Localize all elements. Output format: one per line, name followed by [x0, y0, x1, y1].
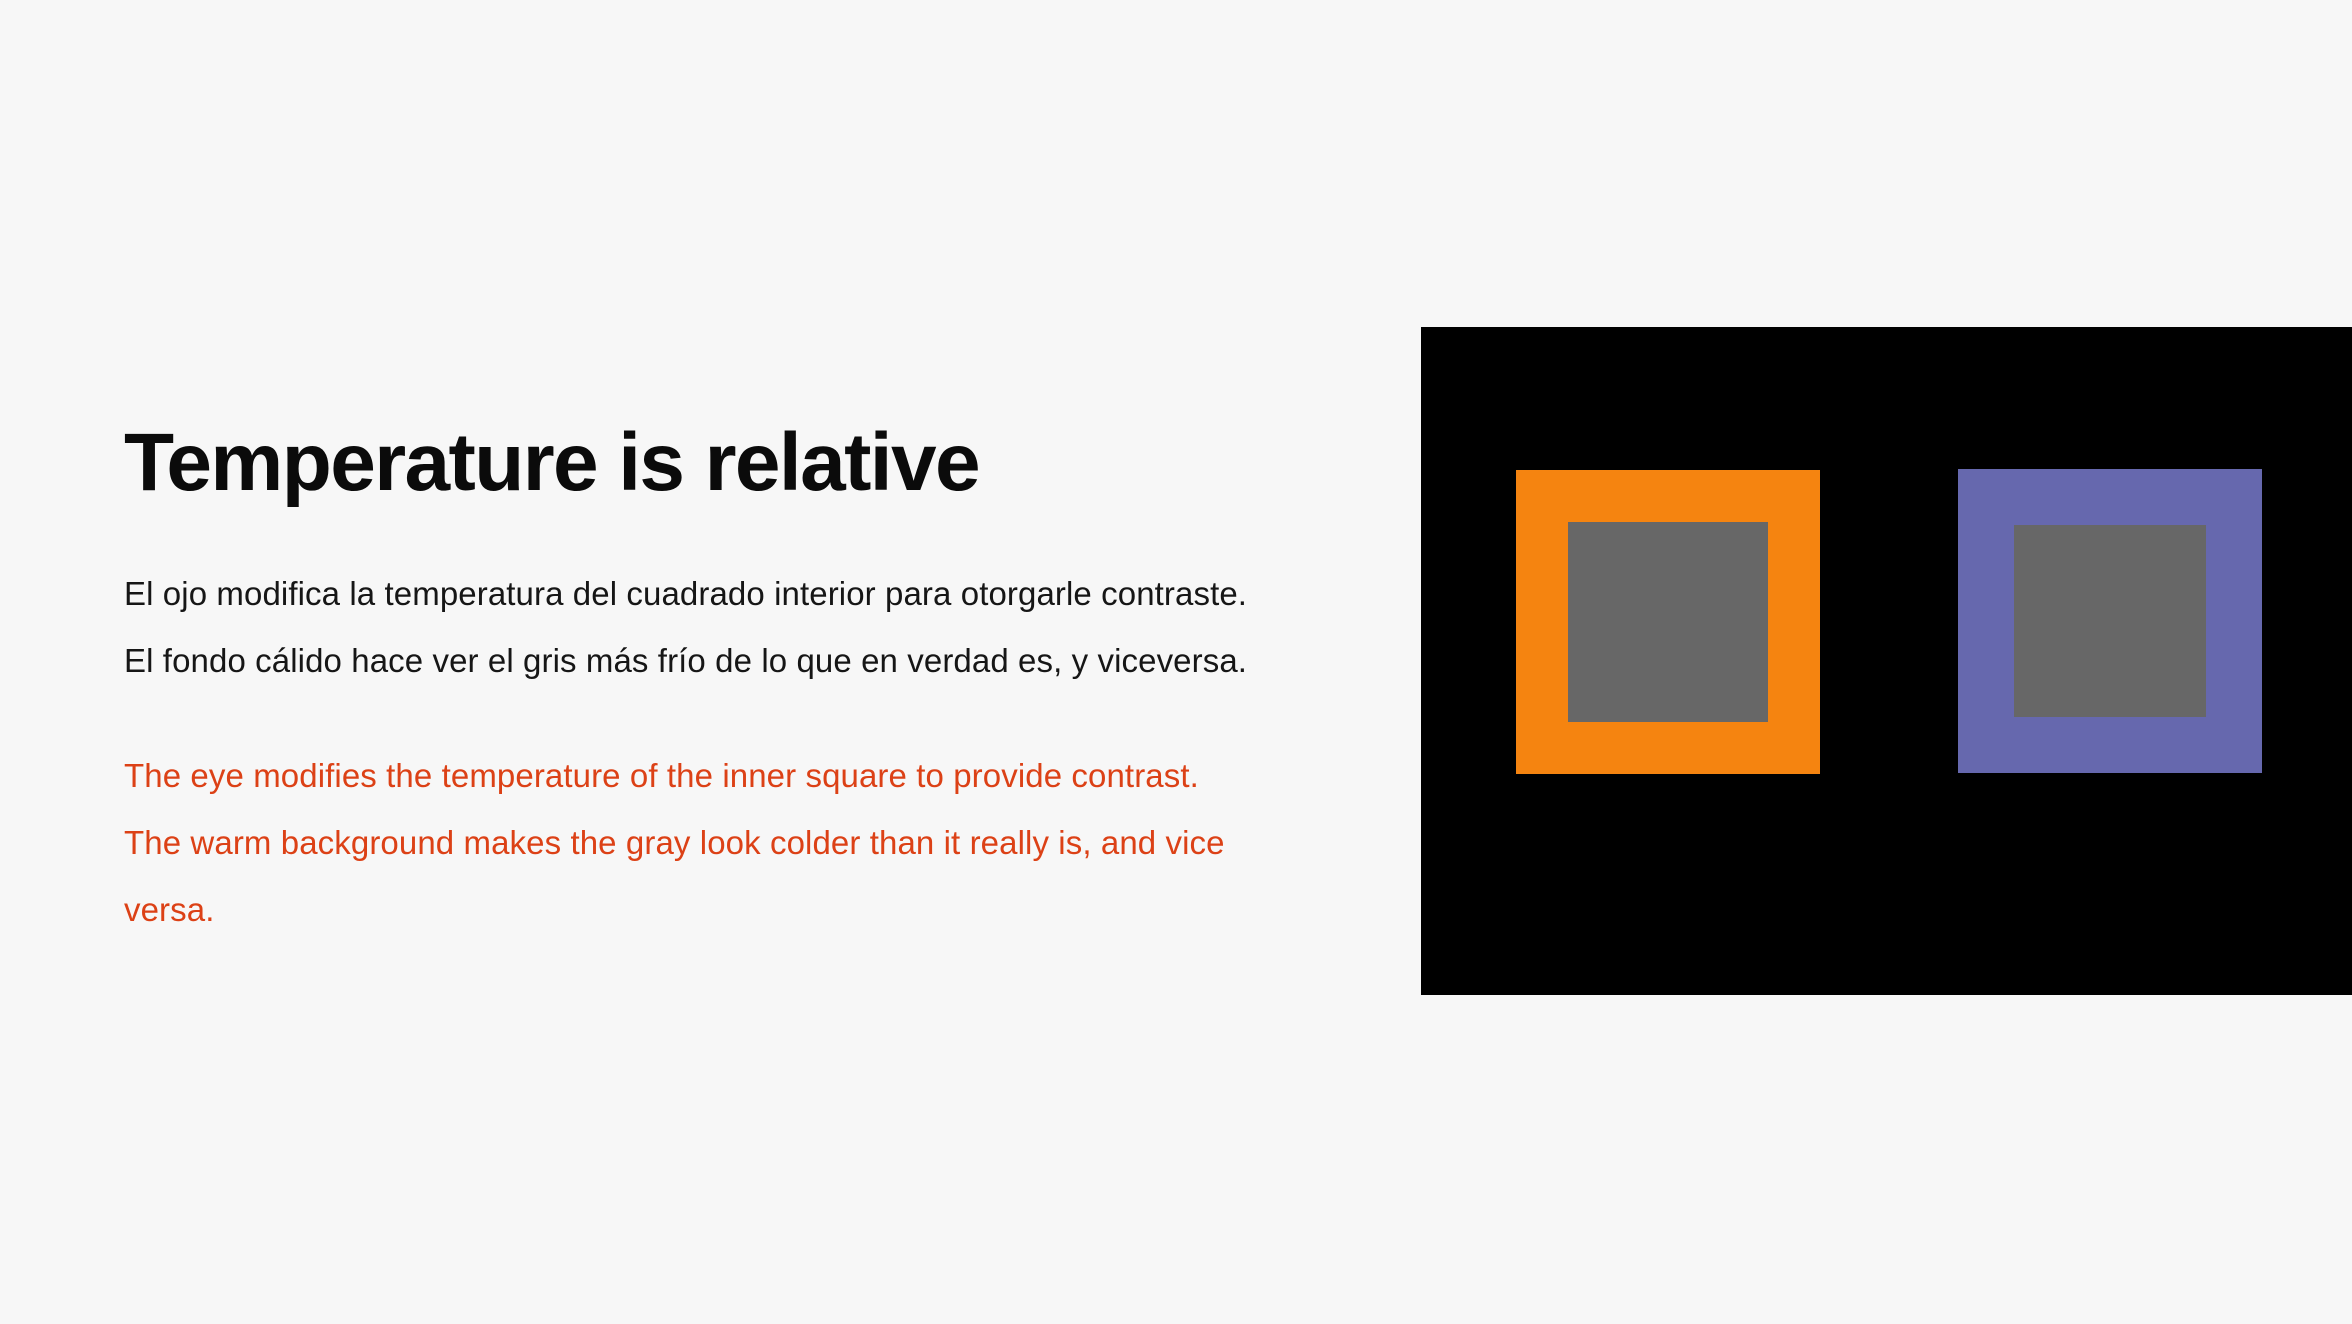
paragraph-spanish: El ojo modifica la temperatura del cuadr…: [124, 560, 1259, 694]
text-column: Temperature is relative El ojo modifica …: [124, 420, 1304, 943]
slide-canvas: Temperature is relative El ojo modifica …: [0, 0, 2352, 1324]
paragraph-english: The eye modifies the temperature of the …: [124, 742, 1259, 943]
cool-swatch: [1958, 469, 2262, 773]
illustration-panel: [1421, 327, 2352, 995]
page-title: Temperature is relative: [124, 420, 1304, 507]
warm-swatch: [1516, 470, 1820, 774]
warm-swatch-inner-gray: [1568, 522, 1768, 722]
cool-swatch-inner-gray: [2014, 525, 2206, 717]
